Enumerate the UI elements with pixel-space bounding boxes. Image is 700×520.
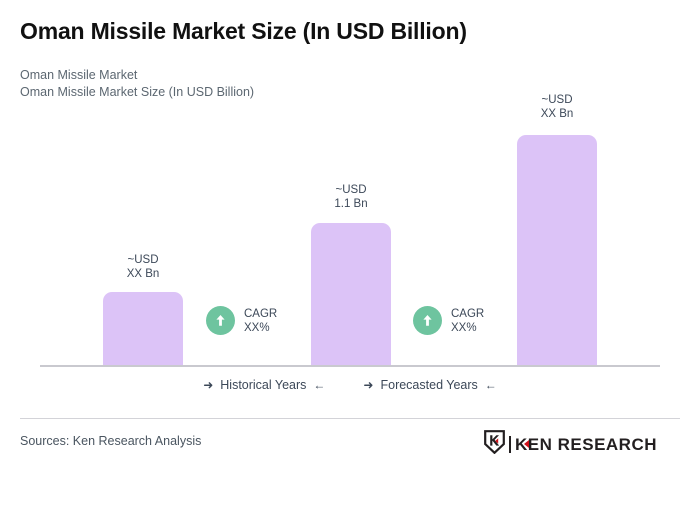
cagr-badge-2: CAGR XX% — [413, 306, 484, 335]
ken-research-shield-icon — [484, 430, 505, 459]
period-label-forecasted: ➜ Forecasted Years ← — [363, 378, 496, 392]
bar-chart-plot: ~USD XX Bn CAGR XX% ~USD 1.1 Bn — [0, 0, 700, 400]
bar-value-label-1: ~USD XX Bn — [103, 253, 183, 281]
period-label-forecasted-text: Forecasted Years — [380, 378, 477, 392]
bar-value-label-3-line1: ~USD — [517, 93, 597, 107]
bar-value-label-3: ~USD XX Bn — [517, 93, 597, 121]
logo-text: KEN RESEARCH — [515, 436, 657, 453]
bar-current[interactable] — [311, 223, 391, 365]
bar-value-label-2-line2: 1.1 Bn — [311, 197, 391, 211]
cagr-badge-1-text: CAGR XX% — [244, 307, 277, 335]
arrow-right-icon: ➜ — [363, 379, 373, 391]
cagr-badge-2-line2: XX% — [451, 321, 484, 335]
cagr-badge-1-line1: CAGR — [244, 307, 277, 321]
footer-divider — [20, 418, 680, 419]
arrow-up-icon — [206, 306, 235, 335]
arrow-up-icon — [413, 306, 442, 335]
ken-research-logo: KEN RESEARCH — [484, 430, 657, 459]
arrow-left-icon: ← — [485, 379, 497, 391]
period-label-historical: ➜ Historical Years ← — [203, 378, 325, 392]
cagr-badge-1-line2: XX% — [244, 321, 277, 335]
bar-value-label-1-line2: XX Bn — [103, 267, 183, 281]
bar-value-label-2-line1: ~USD — [311, 183, 391, 197]
bar-value-label-3-line2: XX Bn — [517, 107, 597, 121]
arrow-right-icon: ➜ — [203, 379, 213, 391]
cagr-badge-2-line1: CAGR — [451, 307, 484, 321]
cagr-badge-2-text: CAGR XX% — [451, 307, 484, 335]
cagr-badge-1: CAGR XX% — [206, 306, 277, 335]
chart-page: Oman Missile Market Size (In USD Billion… — [0, 0, 700, 520]
bar-forecast[interactable] — [517, 135, 597, 365]
arrow-left-icon: ← — [313, 379, 325, 391]
bar-value-label-2: ~USD 1.1 Bn — [311, 183, 391, 211]
bar-historical[interactable] — [103, 292, 183, 365]
logo-divider — [509, 436, 511, 453]
sources-note: Sources: Ken Research Analysis — [20, 434, 201, 448]
bar-value-label-1-line1: ~USD — [103, 253, 183, 267]
period-labels: ➜ Historical Years ← ➜ Forecasted Years … — [40, 378, 660, 392]
period-label-historical-text: Historical Years — [220, 378, 306, 392]
axis-baseline — [40, 365, 660, 367]
logo-red-accent-icon — [524, 440, 529, 448]
